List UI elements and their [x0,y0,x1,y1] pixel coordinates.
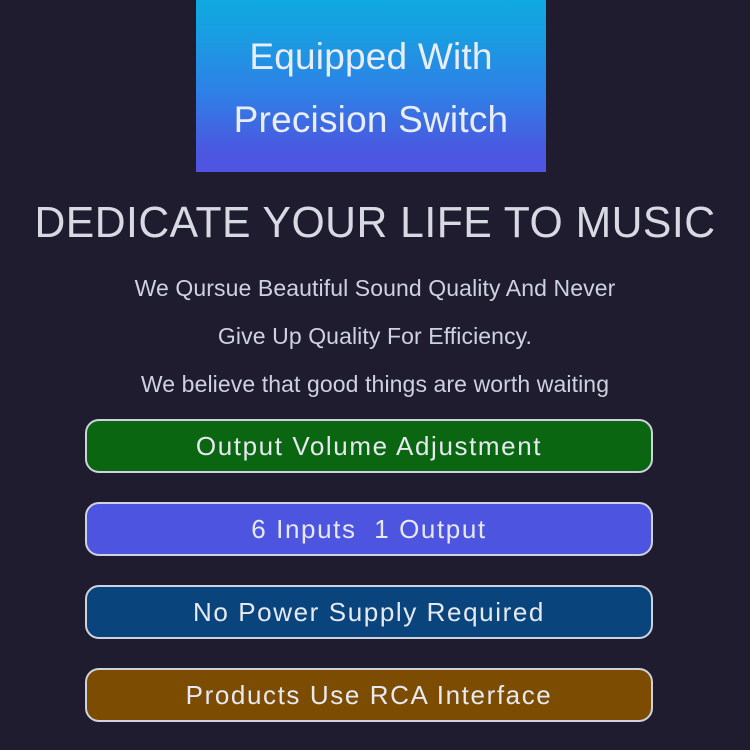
feature-pill-label: No Power Supply Required [193,599,545,625]
page-title: DEDICATE YOUR LIFE TO MUSIC [11,196,739,250]
hero-banner-line-2: Precision Switch [234,88,509,151]
tagline-line-2: Give Up Quality For Efficiency. [0,312,750,360]
feature-pill-inputs-outputs: 6 Inputs 1 Output [85,502,653,556]
feature-pill-label: 6 Inputs 1 Output [251,516,487,542]
hero-banner: Equipped With Precision Switch [196,0,546,172]
feature-list: Output Volume Adjustment 6 Inputs 1 Outp… [85,419,653,722]
hero-banner-line-1: Equipped With [249,25,492,88]
tagline-block: We Qursue Beautiful Sound Quality And Ne… [0,264,750,408]
feature-pill-label: Products Use RCA Interface [186,682,553,708]
tagline-line-1: We Qursue Beautiful Sound Quality And Ne… [0,264,750,312]
feature-pill-label: Output Volume Adjustment [196,433,542,459]
tagline-line-3: We believe that good things are worth wa… [0,360,750,408]
feature-pill-rca-interface: Products Use RCA Interface [85,668,653,722]
feature-pill-output-volume-adjustment: Output Volume Adjustment [85,419,653,473]
feature-pill-no-power-supply-required: No Power Supply Required [85,585,653,639]
promo-page: Equipped With Precision Switch DEDICATE … [0,0,750,750]
